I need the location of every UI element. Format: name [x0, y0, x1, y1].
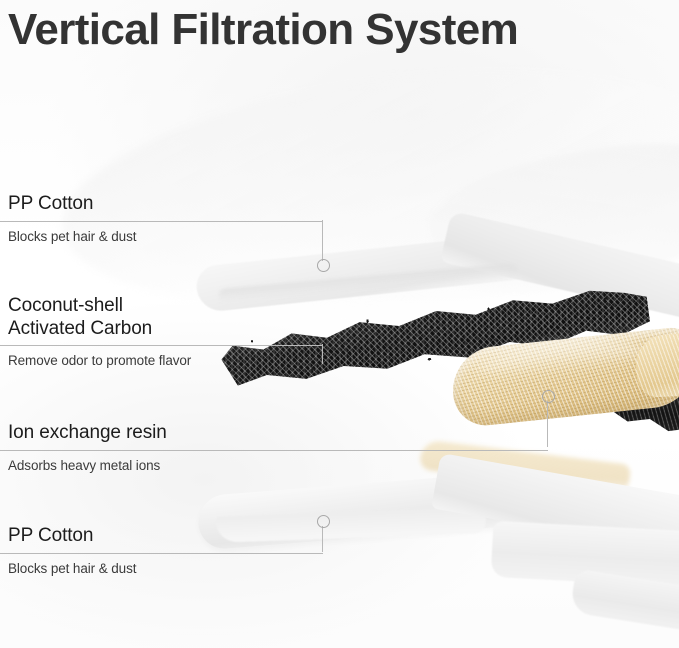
callout-description: Adsorbs heavy metal ions	[0, 451, 548, 474]
filtration-infographic: Vertical Filtration System PP Cotton Blo…	[0, 0, 679, 648]
callout-description: Blocks pet hair & dust	[0, 554, 323, 577]
callout-description: Blocks pet hair & dust	[0, 222, 323, 245]
leader-line-pp-cotton-bottom	[322, 526, 323, 552]
callout-ion-exchange-resin: Ion exchange resin Adsorbs heavy metal i…	[0, 422, 548, 474]
leader-marker-pp-cotton-bottom	[317, 515, 330, 528]
page-title: Vertical Filtration System	[8, 0, 518, 62]
callout-heading: PP Cotton	[0, 193, 323, 216]
callout-activated-carbon: Coconut-shell Activated Carbon Remove od…	[0, 295, 323, 369]
leader-marker-ion-exchange-resin	[542, 390, 555, 403]
leader-line-ion-exchange-resin	[547, 401, 548, 447]
leader-line-activated-carbon	[322, 344, 323, 364]
callout-description: Remove odor to promote flavor	[0, 346, 323, 369]
callout-pp-cotton-bottom: PP Cotton Blocks pet hair & dust	[0, 525, 323, 577]
callout-pp-cotton-top: PP Cotton Blocks pet hair & dust	[0, 193, 323, 245]
callout-heading: Coconut-shell Activated Carbon	[0, 295, 323, 340]
callout-heading: PP Cotton	[0, 525, 323, 548]
leader-line-pp-cotton-top	[322, 220, 323, 261]
leader-marker-pp-cotton-top	[317, 259, 330, 272]
callout-heading: Ion exchange resin	[0, 422, 548, 445]
